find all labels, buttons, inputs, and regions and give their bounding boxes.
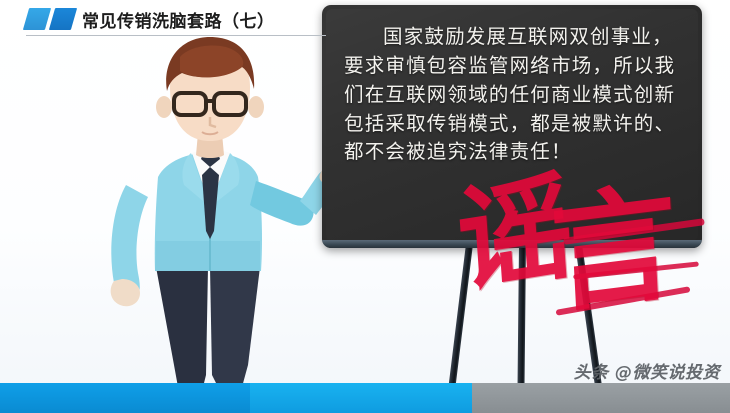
page-title: 常见传销洗脑套路（七）: [82, 7, 275, 32]
header-divider: [26, 35, 326, 36]
watermark: 头条 @微笑说投资: [574, 358, 720, 383]
floor-segment-blue-left: [0, 383, 250, 413]
blackboard-text: 国家鼓励发展互联网双创事业，要求审慎包容监管网络市场，所以我们在互联网领域的任何…: [344, 23, 682, 167]
header-bar: 常见传销洗脑套路（七）: [0, 0, 730, 40]
floor-strip: [0, 383, 730, 413]
right-ear: [248, 96, 264, 118]
blackboard-bottom-rail: [322, 240, 702, 248]
left-trouser-leg: [156, 267, 208, 387]
slide-canvas: 常见传销洗脑套路（七） 国家鼓励发展互联网双创事业，要求审慎包容监管网络市场，所…: [0, 0, 730, 413]
accent-parallelogram-light: [23, 8, 51, 30]
stamp-stroke-3: [556, 286, 691, 316]
presenter-illustration: [60, 35, 350, 413]
blackboard: 国家鼓励发展互联网双创事业，要求审慎包容监管网络市场，所以我们在互联网领域的任何…: [322, 5, 702, 248]
stamp-stroke-2: [573, 261, 699, 279]
easel-leg-middle: [517, 244, 525, 396]
right-trouser-leg: [210, 267, 260, 387]
suit-lower-shade: [155, 241, 260, 271]
easel-leg-left: [448, 244, 473, 396]
floor-segment-gray: [472, 383, 730, 413]
left-ear: [156, 96, 172, 118]
accent-parallelogram-dark: [49, 8, 77, 30]
floor-segment-blue-right: [250, 383, 472, 413]
